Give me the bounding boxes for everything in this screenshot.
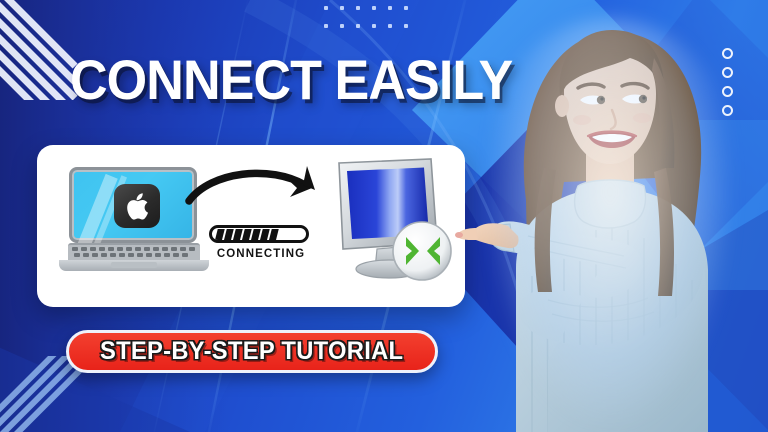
remote-desktop-monitor-icon bbox=[327, 157, 455, 283]
connecting-progress: CONNECTING bbox=[209, 225, 313, 260]
dot-grid-decoration bbox=[324, 6, 420, 42]
curved-arrow-icon bbox=[185, 163, 325, 211]
status-badge-label: STEP-BY-STEP TUTORIAL bbox=[100, 337, 403, 366]
apple-icon bbox=[124, 192, 150, 222]
laptop-base bbox=[59, 243, 209, 269]
status-badge[interactable]: STEP-BY-STEP TUTORIAL bbox=[66, 330, 438, 373]
progress-label: CONNECTING bbox=[209, 248, 313, 260]
progress-bar-track bbox=[209, 225, 309, 243]
laptop-deck bbox=[59, 260, 209, 271]
apple-logo-badge bbox=[114, 184, 160, 228]
presenter-glow bbox=[484, 18, 736, 432]
page-title: CONNECT EASILY bbox=[70, 52, 442, 108]
presenter-photo bbox=[452, 0, 768, 432]
thumbnail-canvas: CONNECT EASILY bbox=[0, 0, 768, 432]
laptop-trackpad bbox=[111, 262, 157, 268]
illustration-card: CONNECTING bbox=[37, 145, 465, 307]
laptop-screen bbox=[69, 167, 197, 243]
